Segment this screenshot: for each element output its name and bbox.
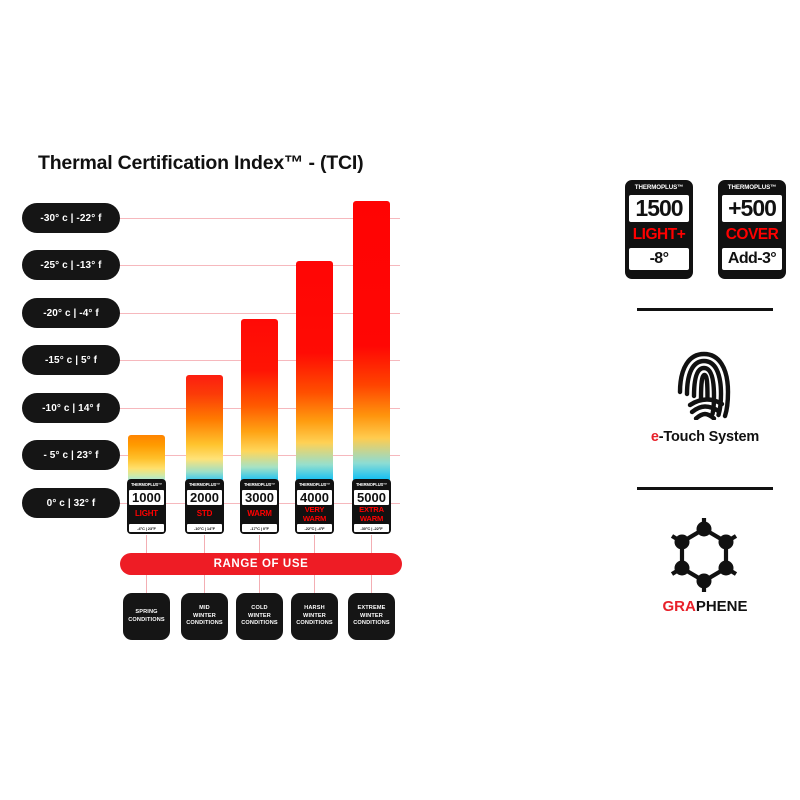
- bar-1000[interactable]: [128, 435, 165, 480]
- condition-extreme-winter[interactable]: EXTREME WINTER CONDITIONS: [348, 593, 395, 640]
- bar-tag-4000[interactable]: THERMOPLUS™ 4000 VERY WARM -22°C | -4°F: [295, 479, 334, 534]
- tag-number: 2000: [187, 490, 222, 505]
- badge-head: THERMOPLUS™: [629, 184, 689, 193]
- tag-number: 4000: [297, 490, 332, 505]
- tag-temp: -4°C | 23°F: [129, 524, 164, 532]
- tag-head: THERMOPLUS™: [242, 481, 277, 489]
- badge-head: THERMOPLUS™: [722, 184, 782, 193]
- tag-head: THERMOPLUS™: [354, 481, 389, 489]
- connector-1: [146, 535, 147, 553]
- graphene-suffix: PHENE: [696, 598, 748, 615]
- badge-temp: -8°: [629, 248, 689, 270]
- tag-head: THERMOPLUS™: [129, 481, 164, 489]
- condition-cold-winter[interactable]: COLD WINTER CONDITIONS: [236, 593, 283, 640]
- bar-tag-2000[interactable]: THERMOPLUS™ 2000 STD -10°C | 14°F: [185, 479, 224, 534]
- divider-top: [637, 308, 773, 311]
- divider-bottom: [637, 487, 773, 490]
- bar-3000[interactable]: [241, 319, 278, 480]
- tag-word: VERY WARM: [297, 506, 332, 523]
- condition-spring[interactable]: SPRING CONDITIONS: [123, 593, 170, 640]
- y-axis-label-3: -15° c | 5° f: [22, 345, 120, 375]
- etouch-suffix: -Touch System: [659, 429, 759, 445]
- badge-number: 1500: [629, 195, 689, 222]
- connector-7: [204, 575, 205, 593]
- badge-thermoplus-1500[interactable]: THERMOPLUS™ 1500 LIGHT+ -8°: [623, 178, 695, 281]
- bar-tag-5000[interactable]: THERMOPLUS™ 5000 EXTRA WARM -30°C | -22°…: [352, 479, 391, 534]
- tag-word: WARM: [242, 506, 277, 523]
- tci-chart: -30° c | -22° f -25° c | -13° f -20° c |…: [0, 0, 430, 560]
- bar-5000[interactable]: [353, 201, 390, 480]
- connector-3: [259, 535, 260, 553]
- y-axis-label-5: - 5° c | 23° f: [22, 440, 120, 470]
- tag-temp: -17°C | 0°F: [242, 524, 277, 532]
- tag-number: 1000: [129, 490, 164, 505]
- fingerprint-icon: [676, 348, 732, 420]
- tag-head: THERMOPLUS™: [297, 481, 332, 489]
- connector-10: [371, 575, 372, 593]
- connector-6: [146, 575, 147, 593]
- bar-tag-1000[interactable]: THERMOPLUS™ 1000 LIGHT -4°C | 23°F: [127, 479, 166, 534]
- bar-tag-3000[interactable]: THERMOPLUS™ 3000 WARM -17°C | 0°F: [240, 479, 279, 534]
- connector-2: [204, 535, 205, 553]
- tci-infographic: Thermal Certification Index™ - (TCI) -30…: [0, 0, 800, 800]
- badge-thermoplus-500[interactable]: THERMOPLUS™ +500 COVER Add-3°: [716, 178, 788, 281]
- condition-harsh-winter[interactable]: HARSH WINTER CONDITIONS: [291, 593, 338, 640]
- tag-temp: -10°C | 14°F: [187, 524, 222, 532]
- tag-number: 3000: [242, 490, 277, 505]
- etouch-prefix: e: [651, 429, 659, 445]
- tag-number: 5000: [354, 490, 389, 505]
- tag-head: THERMOPLUS™: [187, 481, 222, 489]
- condition-mid-winter[interactable]: MID WINTER CONDITIONS: [181, 593, 228, 640]
- graphene-molecule-icon: [662, 517, 746, 595]
- connector-4: [314, 535, 315, 553]
- badge-number: +500: [722, 195, 782, 222]
- bar-2000[interactable]: [186, 375, 223, 480]
- y-axis-label-2: -20° c | -4° f: [22, 298, 120, 328]
- graphene-label: GRAPHENE: [610, 598, 800, 615]
- connector-9: [314, 575, 315, 593]
- y-axis-label-0: -30° c | -22° f: [22, 203, 120, 233]
- connector-8: [259, 575, 260, 593]
- y-axis-label-1: -25° c | -13° f: [22, 250, 120, 280]
- connector-5: [371, 535, 372, 553]
- tag-word: STD: [187, 506, 222, 523]
- badge-word: LIGHT+: [629, 224, 689, 246]
- badge-word: COVER: [722, 224, 782, 246]
- tag-word: EXTRA WARM: [354, 506, 389, 523]
- range-of-use-bar: RANGE OF USE: [120, 553, 402, 575]
- y-axis-label-4: -10° c | 14° f: [22, 393, 120, 423]
- y-axis-label-6: 0° c | 32° f: [22, 488, 120, 518]
- graphene-prefix: GRA: [662, 598, 695, 615]
- tag-temp: -22°C | -4°F: [297, 524, 332, 532]
- tag-temp: -30°C | -22°F: [354, 524, 389, 532]
- tag-word: LIGHT: [129, 506, 164, 523]
- etouch-system-label: e-Touch System: [610, 429, 800, 445]
- bar-4000[interactable]: [296, 261, 333, 480]
- badge-temp: Add-3°: [722, 248, 782, 270]
